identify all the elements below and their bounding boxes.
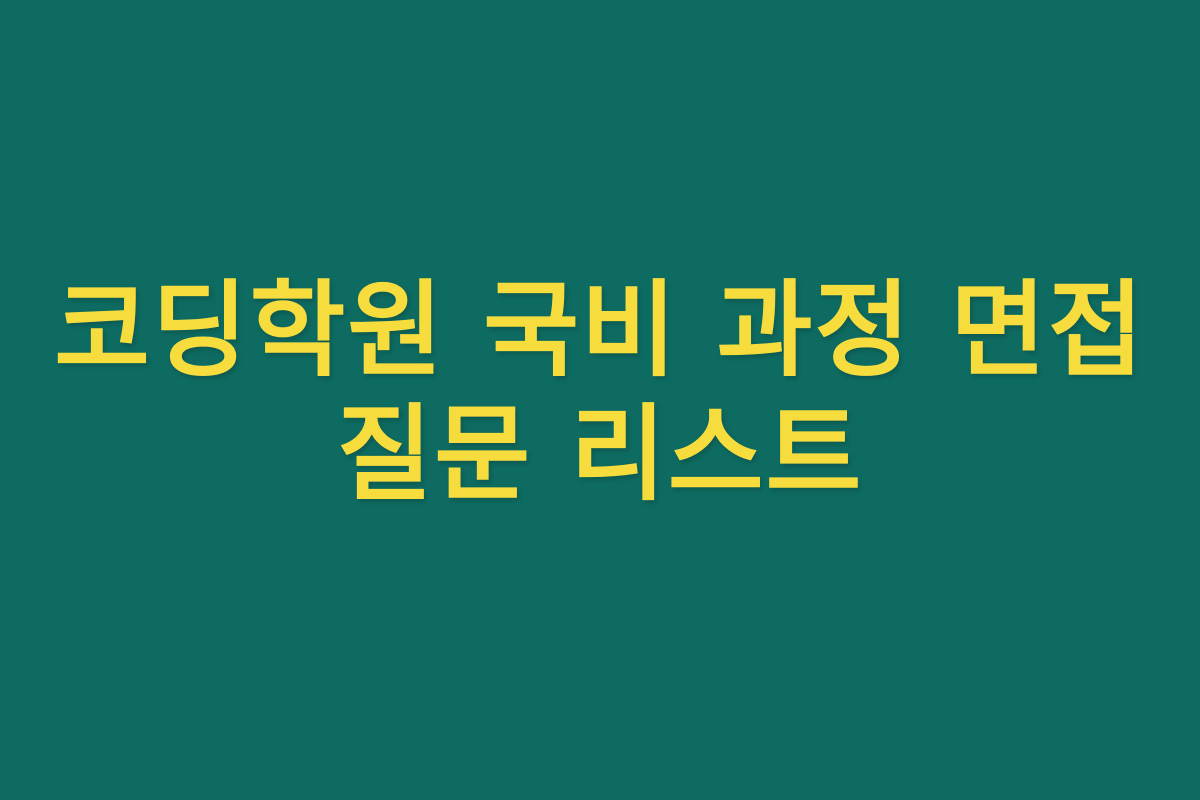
headline-line-2: 질문 리스트 xyxy=(0,392,1200,516)
headline-block: 코딩학원 국비 과정 면접 질문 리스트 xyxy=(0,268,1200,516)
headline-line-1: 코딩학원 국비 과정 면접 xyxy=(0,268,1200,392)
banner-canvas: 코딩학원 국비 과정 면접 질문 리스트 xyxy=(0,0,1200,800)
